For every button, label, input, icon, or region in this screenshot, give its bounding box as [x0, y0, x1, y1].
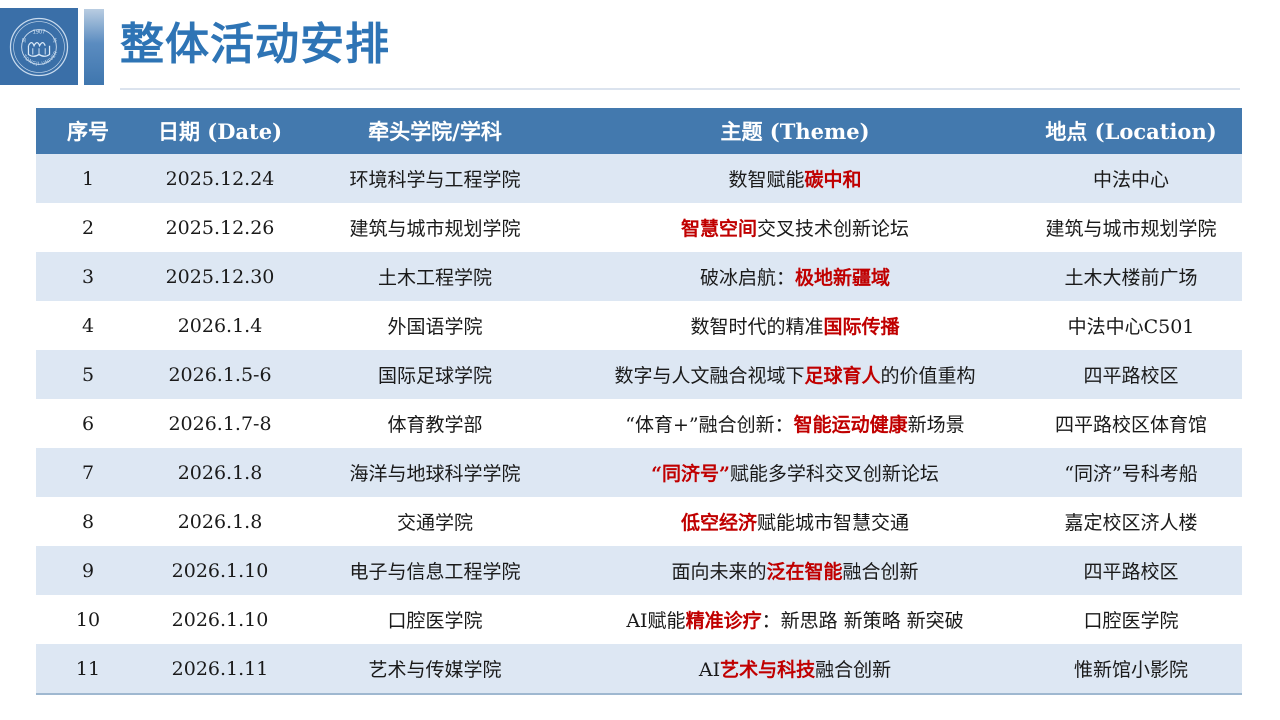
- cell-theme: 智慧空间交叉技术创新论坛: [570, 203, 1020, 252]
- cell-school: 体育教学部: [300, 399, 570, 448]
- cell-location: 口腔医学院: [1020, 595, 1242, 644]
- cell-location: “同济”号科考船: [1020, 448, 1242, 497]
- tongji-seal-icon: 1907 TONGJI UNIVERSITY 同 济: [8, 16, 70, 78]
- theme-text: 赋能多学科交叉创新论坛: [730, 463, 939, 485]
- cell-no: 4: [36, 301, 140, 350]
- theme-text: 破冰启航：: [700, 267, 795, 289]
- theme-text: 新场景: [908, 414, 965, 436]
- cell-date: 2025.12.24: [140, 154, 300, 203]
- table-row: 12025.12.24环境科学与工程学院数智赋能碳中和中法中心: [36, 154, 1242, 203]
- column-header-date: 日期 (Date): [140, 108, 300, 154]
- table-row: 102026.1.10口腔医学院AI赋能精准诊疗：新思路 新策略 新突破口腔医学…: [36, 595, 1242, 644]
- theme-text: 数字与人文融合视域下: [614, 365, 804, 387]
- theme-text: AI: [699, 659, 720, 681]
- table-header: 序号 日期 (Date) 牵头学院/学科 主题 (Theme) 地点 (Loca…: [36, 108, 1242, 154]
- cell-theme: 面向未来的泛在智能融合创新: [570, 546, 1020, 595]
- table-row: 32025.12.30土木工程学院破冰启航：极地新疆域土木大楼前广场: [36, 252, 1242, 301]
- cell-no: 5: [36, 350, 140, 399]
- column-header-loc: 地点 (Location): [1020, 108, 1242, 154]
- table-row: 92026.1.10电子与信息工程学院面向未来的泛在智能融合创新四平路校区: [36, 546, 1242, 595]
- cell-no: 7: [36, 448, 140, 497]
- column-header-theme: 主题 (Theme): [570, 108, 1020, 154]
- cell-school: 外国语学院: [300, 301, 570, 350]
- cell-date: 2026.1.4: [140, 301, 300, 350]
- column-header-no: 序号: [36, 108, 140, 154]
- cell-no: 6: [36, 399, 140, 448]
- cell-school: 土木工程学院: [300, 252, 570, 301]
- cell-school: 电子与信息工程学院: [300, 546, 570, 595]
- cell-school: 艺术与传媒学院: [300, 644, 570, 694]
- cell-no: 11: [36, 644, 140, 694]
- theme-text: 交叉技术创新论坛: [757, 218, 909, 240]
- cell-theme: 低空经济赋能城市智慧交通: [570, 497, 1020, 546]
- table-row: 52026.1.5-6国际足球学院数字与人文融合视域下足球育人的价值重构四平路校…: [36, 350, 1242, 399]
- cell-date: 2026.1.7-8: [140, 399, 300, 448]
- table-row: 82026.1.8交通学院低空经济赋能城市智慧交通嘉定校区济人楼: [36, 497, 1242, 546]
- cell-no: 2: [36, 203, 140, 252]
- table-body: 12025.12.24环境科学与工程学院数智赋能碳中和中法中心22025.12.…: [36, 154, 1242, 694]
- theme-text: 面向未来的: [671, 561, 766, 583]
- table-row: 42026.1.4外国语学院数智时代的精准国际传播中法中心C501: [36, 301, 1242, 350]
- cell-theme: AI赋能精准诊疗：新思路 新策略 新突破: [570, 595, 1020, 644]
- cell-no: 9: [36, 546, 140, 595]
- cell-theme: 数智赋能碳中和: [570, 154, 1020, 203]
- theme-text: 的价值重构: [881, 365, 976, 387]
- cell-location: 中法中心C501: [1020, 301, 1242, 350]
- cell-date: 2025.12.26: [140, 203, 300, 252]
- cell-theme: AI艺术与科技融合创新: [570, 644, 1020, 694]
- cell-location: 四平路校区体育馆: [1020, 399, 1242, 448]
- theme-text: 融合创新: [843, 561, 919, 583]
- cell-location: 建筑与城市规划学院: [1020, 203, 1242, 252]
- cell-location: 惟新馆小影院: [1020, 644, 1242, 694]
- cell-date: 2026.1.11: [140, 644, 300, 694]
- theme-highlight: 精准诊疗: [686, 610, 762, 632]
- cell-school: 口腔医学院: [300, 595, 570, 644]
- theme-text: 赋能城市智慧交通: [757, 512, 909, 534]
- title-divider: [120, 88, 1240, 90]
- cell-no: 8: [36, 497, 140, 546]
- theme-highlight: 智能运动健康: [794, 414, 908, 436]
- table-row: 112026.1.11艺术与传媒学院AI艺术与科技融合创新惟新馆小影院: [36, 644, 1242, 694]
- cell-location: 中法中心: [1020, 154, 1242, 203]
- theme-highlight: 低空经济: [681, 512, 757, 534]
- theme-highlight: 国际传播: [824, 316, 900, 338]
- cell-location: 四平路校区: [1020, 350, 1242, 399]
- cell-no: 3: [36, 252, 140, 301]
- svg-text:TONGJI UNIVERSITY: TONGJI UNIVERSITY: [8, 16, 59, 67]
- cell-school: 交通学院: [300, 497, 570, 546]
- cell-location: 四平路校区: [1020, 546, 1242, 595]
- page-title: 整体活动安排: [120, 14, 390, 76]
- cell-school: 国际足球学院: [300, 350, 570, 399]
- theme-highlight: 足球育人: [804, 365, 880, 387]
- cell-no: 10: [36, 595, 140, 644]
- theme-text: “体育+”融合创新：: [625, 414, 793, 436]
- cell-theme: 数字与人文融合视域下足球育人的价值重构: [570, 350, 1020, 399]
- theme-highlight: 智慧空间: [681, 218, 757, 240]
- cell-location: 嘉定校区济人楼: [1020, 497, 1242, 546]
- cell-date: 2026.1.10: [140, 546, 300, 595]
- cell-no: 1: [36, 154, 140, 203]
- theme-highlight: “同济号”: [651, 463, 730, 485]
- slide-header: 1907 TONGJI UNIVERSITY 同 济 整体活动安排: [0, 0, 1280, 96]
- cell-date: 2026.1.5-6: [140, 350, 300, 399]
- cell-school: 海洋与地球科学学院: [300, 448, 570, 497]
- cell-theme: 数智时代的精准国际传播: [570, 301, 1020, 350]
- theme-highlight: 极地新疆域: [795, 267, 890, 289]
- theme-text: 融合创新: [815, 659, 891, 681]
- svg-text:同: 同: [22, 38, 26, 44]
- cell-theme: 破冰启航：极地新疆域: [570, 252, 1020, 301]
- theme-highlight: 艺术与科技: [720, 659, 815, 681]
- table-header-row: 序号 日期 (Date) 牵头学院/学科 主题 (Theme) 地点 (Loca…: [36, 108, 1242, 154]
- theme-highlight: 泛在智能: [766, 561, 842, 583]
- table-row: 72026.1.8海洋与地球科学学院“同济号”赋能多学科交叉创新论坛“同济”号科…: [36, 448, 1242, 497]
- svg-text:1907: 1907: [33, 29, 46, 35]
- schedule-table: 序号 日期 (Date) 牵头学院/学科 主题 (Theme) 地点 (Loca…: [36, 108, 1242, 695]
- theme-text: ：新思路 新策略 新突破: [762, 610, 964, 632]
- theme-text: AI赋能: [626, 610, 685, 632]
- university-logo-tile: 1907 TONGJI UNIVERSITY 同 济: [0, 8, 78, 85]
- cell-theme: “体育+”融合创新：智能运动健康新场景: [570, 399, 1020, 448]
- cell-theme: “同济号”赋能多学科交叉创新论坛: [570, 448, 1020, 497]
- theme-text: 数智赋能: [728, 169, 804, 191]
- title-accent-bar: [84, 9, 104, 85]
- cell-date: 2026.1.8: [140, 497, 300, 546]
- theme-text: 数智时代的精准: [690, 316, 823, 338]
- cell-school: 环境科学与工程学院: [300, 154, 570, 203]
- column-header-school: 牵头学院/学科: [300, 108, 570, 154]
- table-row: 62026.1.7-8体育教学部“体育+”融合创新：智能运动健康新场景四平路校区…: [36, 399, 1242, 448]
- cell-school: 建筑与城市规划学院: [300, 203, 570, 252]
- cell-location: 土木大楼前广场: [1020, 252, 1242, 301]
- cell-date: 2025.12.30: [140, 252, 300, 301]
- schedule-table-wrapper: 序号 日期 (Date) 牵头学院/学科 主题 (Theme) 地点 (Loca…: [36, 108, 1242, 695]
- cell-date: 2026.1.8: [140, 448, 300, 497]
- table-row: 22025.12.26建筑与城市规划学院智慧空间交叉技术创新论坛建筑与城市规划学…: [36, 203, 1242, 252]
- cell-date: 2026.1.10: [140, 595, 300, 644]
- theme-highlight: 碳中和: [805, 169, 862, 191]
